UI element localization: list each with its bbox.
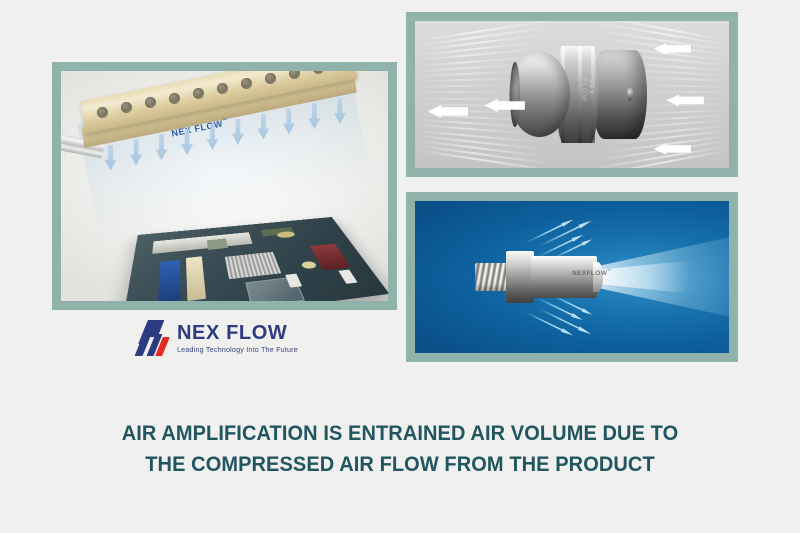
nex-flow-logo-mark-icon	[138, 320, 168, 356]
air-stream-line	[636, 76, 729, 82]
amplifier-outlet-cone	[509, 52, 570, 137]
brand-text-block: NEX FLOW Leading Technology Into The Fut…	[177, 323, 298, 353]
amplifier-rear-housing	[592, 50, 647, 139]
air-stream-line	[641, 84, 729, 88]
brand-logo: NEX FLOW Leading Technology Into The Fut…	[138, 320, 298, 356]
air-knife-outlet-hole	[265, 73, 276, 84]
air-knife-outlet-hole	[169, 93, 180, 104]
caption-text: AIR AMPLIFICATION IS ENTRAINED AIR VOLUM…	[28, 418, 772, 479]
air-knife-outlet-hole	[217, 83, 228, 94]
amplifier-body: NEX FLOW	[509, 46, 647, 143]
air-nozzle-image: NEXFLOW™	[415, 201, 729, 353]
air-knife-outlet-hole	[241, 78, 252, 89]
air-knife-outlet-hole	[97, 107, 108, 118]
amplifier-air-port	[627, 86, 633, 101]
air-stream-line	[415, 84, 506, 88]
air-amplifier-image: NEX FLOW	[415, 21, 729, 168]
air-knife-image: NEX FLOW™	[61, 71, 388, 301]
brand-name: NEX FLOW	[177, 323, 298, 343]
panel-air-knife: NEX FLOW™	[52, 62, 397, 310]
caption-line-1: AIR AMPLIFICATION IS ENTRAINED AIR VOLUM…	[28, 418, 772, 449]
air-stream-line	[415, 70, 516, 77]
amplifier-engraving: NEX FLOW	[580, 78, 594, 102]
air-stream-line	[415, 91, 501, 94]
brand-tagline: Leading Technology Into The Future	[177, 346, 298, 353]
air-stream-line	[415, 97, 501, 100]
panel-air-nozzle: NEXFLOW™	[406, 192, 738, 362]
air-stream-line	[647, 91, 729, 94]
panel-air-amplifier: NEX FLOW	[406, 12, 738, 177]
nozzle-hex-collar	[506, 251, 534, 303]
nozzle-product-label: NEXFLOW™	[572, 268, 612, 277]
air-knife-outlet-hole	[121, 102, 132, 113]
caption-line-2: THE COMPRESSED AIR FLOW FROM THE PRODUCT	[28, 449, 772, 480]
amplifier-cone-mouth	[510, 62, 520, 127]
air-stream-line	[636, 109, 729, 115]
nozzle-threaded-inlet	[475, 263, 511, 292]
air-stream-line	[415, 77, 511, 82]
air-knife-outlet-hole	[193, 88, 204, 99]
